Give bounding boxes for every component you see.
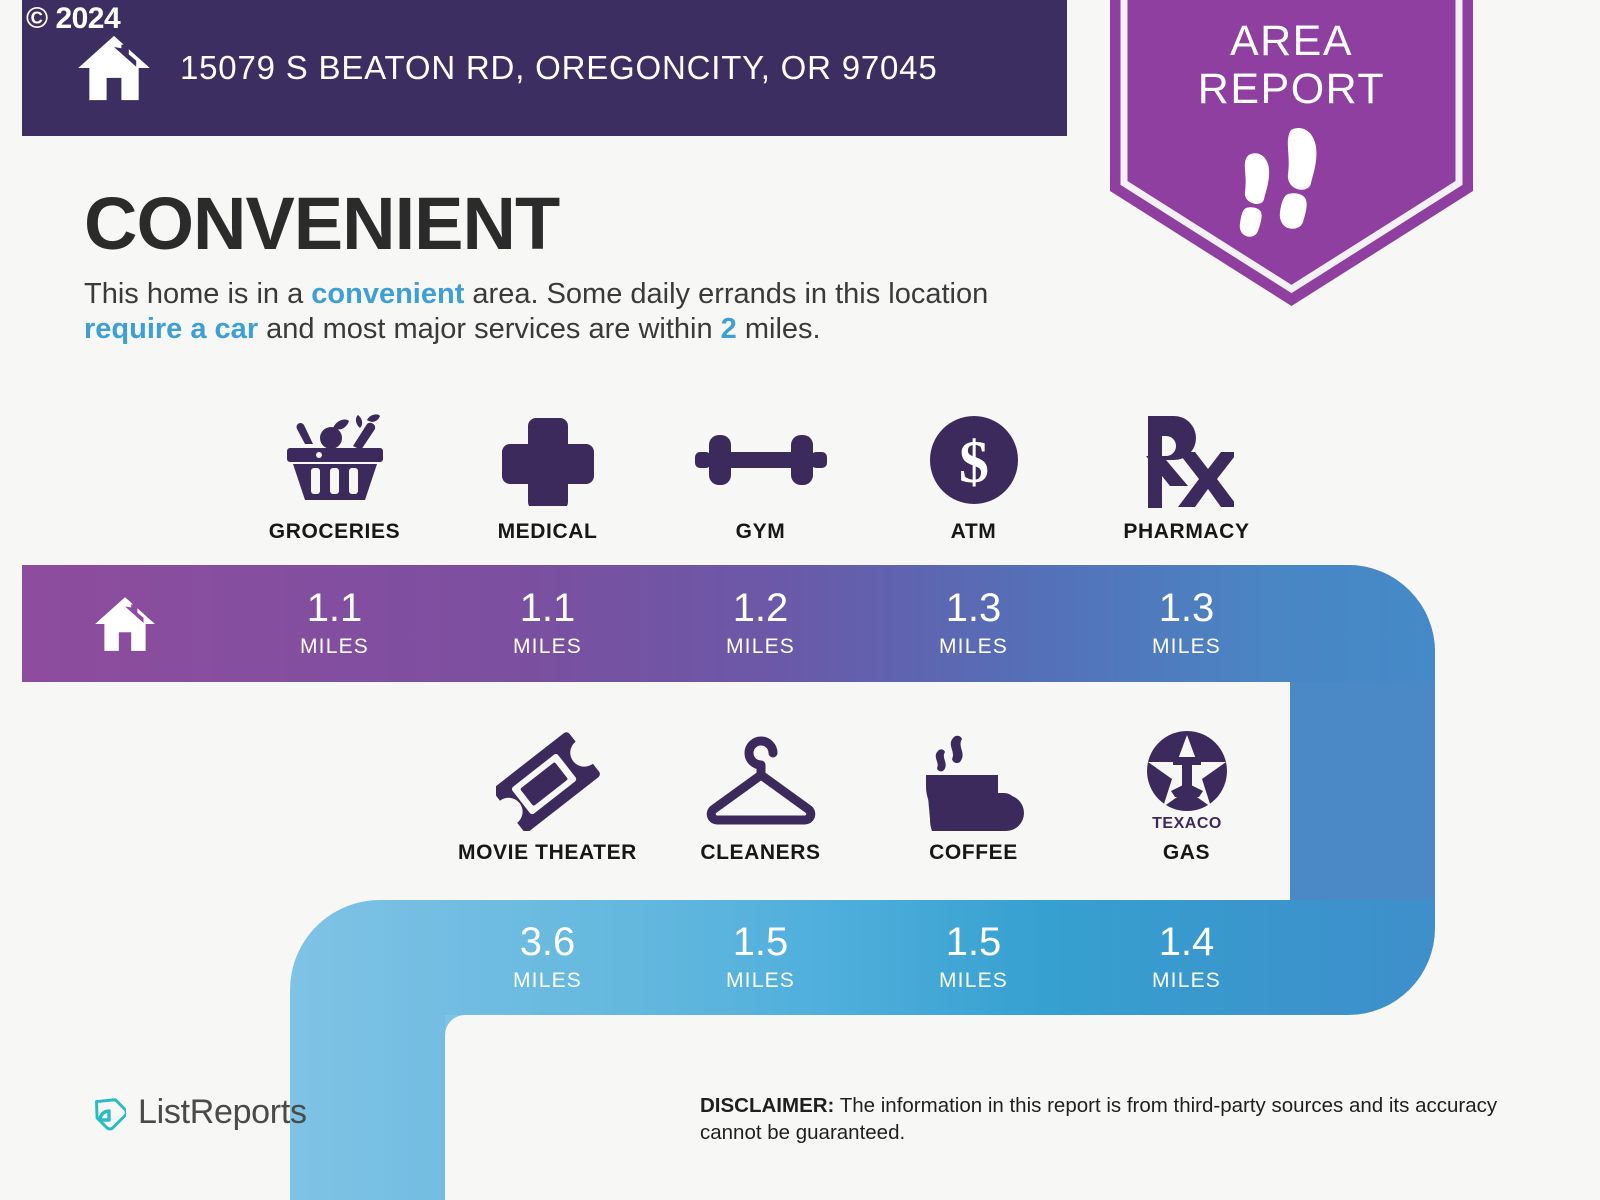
badge-line-1: AREA (1230, 17, 1353, 65)
distance-unit: MILES (939, 969, 1008, 993)
distance-cell-medical: 1.1 MILES (441, 565, 654, 682)
distance-cell-atm: 1.3 MILES (867, 565, 1080, 682)
copyright-watermark: © 2024 (26, 2, 120, 36)
distance-cell-gas: 1.4 MILES (1080, 900, 1293, 1015)
home-marker-cell (22, 565, 228, 682)
distance-value: 3.6 (520, 922, 576, 962)
distance-cell-cleaners: 1.5 MILES (654, 900, 867, 1015)
distance-value: 1.1 (307, 588, 363, 628)
distance-value: 1.1 (520, 588, 576, 628)
listreports-logo: ListReports (84, 1090, 307, 1134)
distance-unit: MILES (1152, 969, 1221, 993)
distance-unit: MILES (513, 635, 582, 659)
distance-unit: MILES (939, 635, 1008, 659)
distance-value: 1.3 (946, 588, 1002, 628)
distance-cell-gym: 1.2 MILES (654, 565, 867, 682)
distance-unit: MILES (1152, 635, 1221, 659)
logo-wordmark: ListReports (138, 1093, 307, 1132)
disclaimer-label: DISCLAIMER: (700, 1094, 834, 1117)
distance-cell-movie-theater: 3.6 MILES (441, 900, 654, 1015)
badge-label: AREA REPORT (1110, 20, 1473, 111)
distance-value: 1.5 (946, 922, 1002, 962)
distance-unit: MILES (300, 635, 369, 659)
distance-value: 1.5 (733, 922, 789, 962)
distance-cell-pharmacy: 1.3 MILES (1080, 565, 1293, 682)
home-icon (92, 593, 158, 655)
distance-value: 1.4 (1159, 922, 1215, 962)
distance-unit: MILES (726, 635, 795, 659)
distance-cell-coffee: 1.5 MILES (867, 900, 1080, 1015)
distance-cell-groceries: 1.1 MILES (228, 565, 441, 682)
disclaimer: DISCLAIMER: The information in this repo… (700, 1092, 1500, 1147)
distance-value: 1.3 (1159, 588, 1215, 628)
distance-value: 1.2 (733, 588, 789, 628)
listreports-house-icon (84, 1090, 126, 1134)
distance-unit: MILES (726, 969, 795, 993)
badge-line-2: REPORT (1110, 68, 1473, 111)
distance-unit: MILES (513, 969, 582, 993)
area-report-badge: AREA REPORT (1110, 0, 1473, 306)
